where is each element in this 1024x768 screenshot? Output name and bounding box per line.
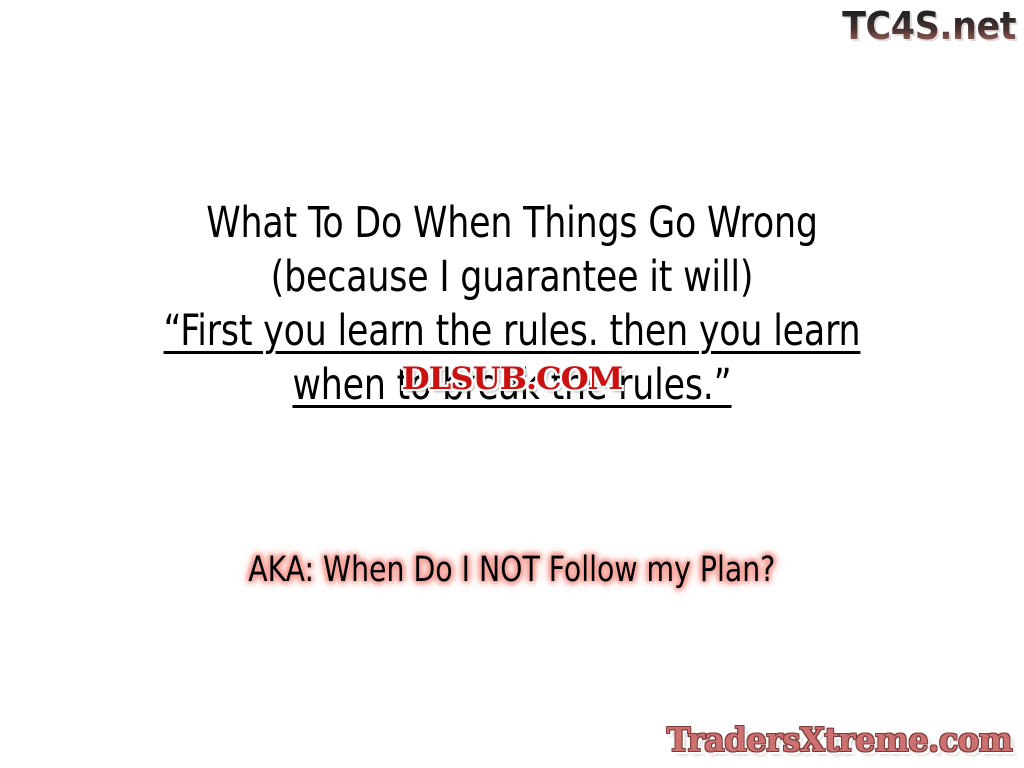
slide-canvas: TC4S.net TC4S.net What To Do When Things…	[0, 0, 1024, 768]
tradersxtreme-logo: TradersXtreme.com	[667, 720, 1012, 760]
headline-block: What To Do When Things Go Wrong (because…	[0, 196, 1024, 412]
headline-line-3: “First you learn the rules. then you lea…	[51, 304, 973, 358]
subheadline-block: AKA: When Do I NOT Follow my Plan?	[0, 548, 1024, 592]
tc4s-logo: TC4S.net	[842, 4, 1016, 48]
headline-line-1: What To Do When Things Go Wrong	[51, 196, 973, 250]
headline-line-2: (because I guarantee it will)	[51, 250, 973, 304]
subheadline-text: AKA: When Do I NOT Follow my Plan?	[249, 548, 776, 592]
headline-line-4: when to break the rules.”	[51, 358, 973, 412]
